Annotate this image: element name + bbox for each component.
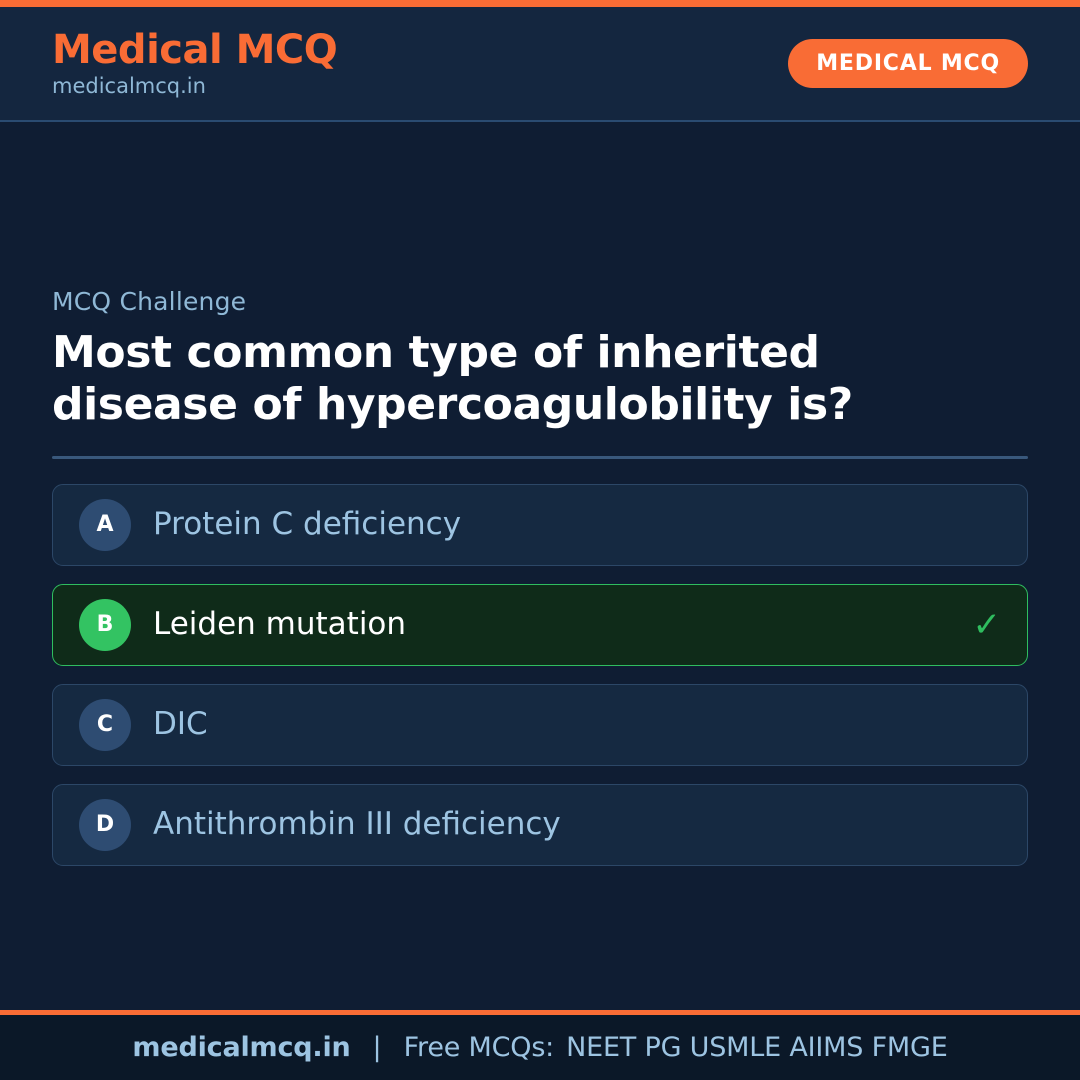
brand-block: Medical MCQ medicalmcq.in xyxy=(52,29,337,98)
option-letter-badge: A xyxy=(79,499,131,551)
top-accent-bar xyxy=(0,0,1080,7)
option-label: Leiden mutation xyxy=(153,606,406,643)
header-badge[interactable]: MEDICAL MCQ xyxy=(788,39,1028,88)
question-eyebrow: MCQ Challenge xyxy=(52,287,1028,317)
footer-separator: | xyxy=(373,1032,382,1063)
brand-subtitle: medicalmcq.in xyxy=(52,75,337,98)
options-list: A Protein C deficiency ✓ B Leiden mutati… xyxy=(52,484,1028,866)
question-divider xyxy=(52,456,1028,459)
footer-site-link[interactable]: medicalmcq.in xyxy=(132,1032,350,1063)
option-letter-badge: C xyxy=(79,699,131,751)
option-row-a[interactable]: A Protein C deficiency ✓ xyxy=(52,484,1028,566)
option-label: DIC xyxy=(153,706,208,743)
question-block: MCQ Challenge Most common type of inheri… xyxy=(52,287,1028,459)
option-row-c[interactable]: C DIC ✓ xyxy=(52,684,1028,766)
checkmark-icon: ✓ xyxy=(973,608,1002,642)
option-label: Protein C deficiency xyxy=(153,506,461,543)
option-row-d[interactable]: D Antithrombin III deficiency ✓ xyxy=(52,784,1028,866)
footer-exam-list: NEET PG USMLE AIIMS FMGE xyxy=(566,1032,947,1063)
option-label: Antithrombin III deficiency xyxy=(153,806,561,843)
footer-label: Free MCQs: xyxy=(404,1032,554,1063)
footer: medicalmcq.in | Free MCQs: NEET PG USMLE… xyxy=(0,1015,1080,1080)
question-area: MCQ Challenge Most common type of inheri… xyxy=(0,122,1080,1010)
option-row-b[interactable]: B Leiden mutation ✓ xyxy=(52,584,1028,666)
header: Medical MCQ medicalmcq.in MEDICAL MCQ xyxy=(0,7,1080,122)
footer-wrap: medicalmcq.in | Free MCQs: NEET PG USMLE… xyxy=(0,1010,1080,1080)
option-letter-badge: D xyxy=(79,799,131,851)
question-text: Most common type of inherited disease of… xyxy=(52,327,1012,431)
option-letter-badge: B xyxy=(79,599,131,651)
brand-title: Medical MCQ xyxy=(52,29,337,71)
mcq-card: Medical MCQ medicalmcq.in MEDICAL MCQ MC… xyxy=(0,0,1080,1080)
